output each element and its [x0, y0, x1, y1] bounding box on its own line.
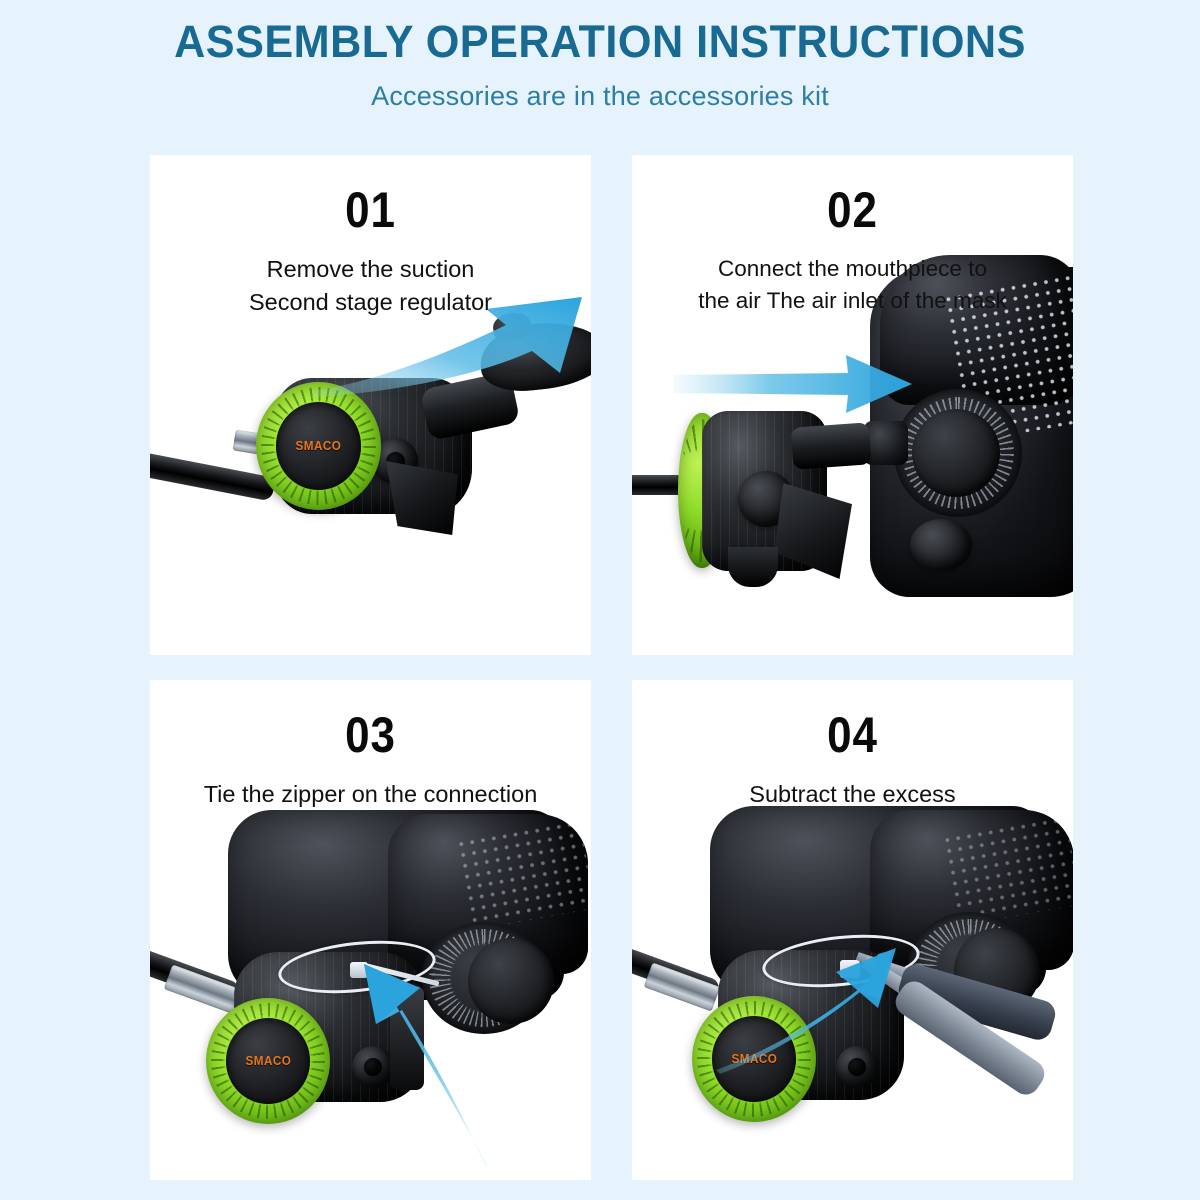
- step-number: 02: [658, 185, 1046, 235]
- step-illustration-03: SMACO: [150, 850, 591, 1180]
- regulator-green-face: SMACO: [206, 998, 330, 1124]
- arrow-up-right-icon: [310, 291, 591, 399]
- arrow-right-icon: [672, 355, 922, 415]
- instruction-poster: ASSEMBLY OPERATION INSTRUCTIONS Accessor…: [0, 0, 1200, 1200]
- regulator-outlet-tube: [791, 422, 872, 469]
- steps-grid: 01 Remove the suction Second stage regul…: [150, 155, 1073, 1180]
- step-number: 04: [658, 710, 1046, 760]
- step-number: 03: [176, 710, 564, 760]
- arrow-up-left-icon: [710, 946, 900, 1076]
- mask-lower-valve: [910, 519, 972, 571]
- step-card-04-text: 04 Subtract the excess: [632, 680, 1073, 811]
- step-caption: Tie the zipper on the connection: [150, 778, 591, 811]
- page-title: ASSEMBLY OPERATION INSTRUCTIONS: [24, 18, 1176, 65]
- regulator-logo-hub: SMACO: [276, 402, 361, 489]
- step-illustration-01: SMACO: [150, 285, 591, 655]
- step-illustration-02: [632, 285, 1073, 655]
- regulator-green-face: SMACO: [256, 382, 381, 510]
- mask-inlet-port: [864, 421, 908, 465]
- step-card-03: 03 Tie the zipper on the connection: [150, 680, 591, 1180]
- regulator-logo-hub: SMACO: [226, 1018, 310, 1104]
- poster-header: ASSEMBLY OPERATION INSTRUCTIONS Accessor…: [0, 0, 1200, 112]
- page-subtitle: Accessories are in the accessories kit: [0, 81, 1200, 112]
- mask-inlet-cap: [912, 409, 1000, 497]
- step-card-02: 02 Connect the mouthpiece to the air The…: [632, 155, 1073, 655]
- step-number: 01: [176, 185, 564, 235]
- smaco-logo: SMACO: [296, 438, 342, 453]
- smaco-logo: SMACO: [245, 1053, 291, 1068]
- regulator-mouth-tab: [728, 547, 778, 587]
- step-card-03-text: 03 Tie the zipper on the connection: [150, 680, 591, 811]
- step-card-04: 04 Subtract the excess S: [632, 680, 1073, 1180]
- step-illustration-04: SMACO: [632, 850, 1073, 1180]
- step-card-01: 01 Remove the suction Second stage regul…: [150, 155, 591, 655]
- arrow-up-left-icon: [346, 962, 492, 1172]
